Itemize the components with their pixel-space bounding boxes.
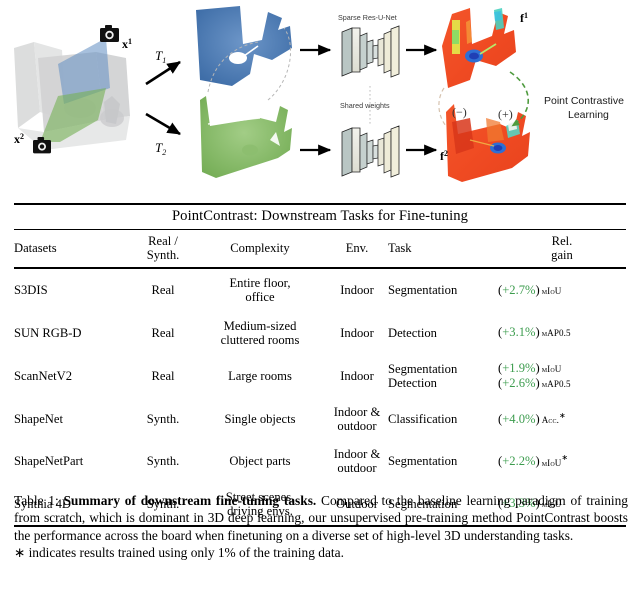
feature-label-1: f1 xyxy=(520,11,528,25)
table-caption: Table 1: Summary of downstream fine-tuni… xyxy=(14,492,628,562)
negative-pair-arc xyxy=(439,88,446,126)
transform-label-t1: T1 xyxy=(155,48,166,65)
downstream-tasks-table: PointContrast: Downstream Tasks for Fine… xyxy=(14,203,626,527)
shared-weights-label: Shared weights xyxy=(340,101,390,110)
gain-value: +2.7% xyxy=(502,283,535,297)
cell-env: Indoor &outdoor xyxy=(326,398,388,440)
cell-realsynth: Real xyxy=(132,354,194,398)
pipeline-figure: x1 x2 T1 T2 xyxy=(0,0,640,200)
header-task: Task xyxy=(388,230,498,268)
gain-entry: (+4.0%)Acc.∗ xyxy=(498,411,626,427)
network-title: Sparse Res-U-Net xyxy=(338,13,397,22)
gain-value: +2.6% xyxy=(502,376,535,390)
gain-metric: mAP0.5 xyxy=(542,379,571,389)
complexity-line1: Medium-sized xyxy=(194,319,326,333)
gain-paren-close: ) xyxy=(536,455,540,469)
contrastive-learning-label-line2: Learning xyxy=(568,109,609,121)
cell-complexity: Single objects xyxy=(194,398,326,440)
cell-gain: (+2.2%)mIoU∗ xyxy=(498,440,626,482)
table-row: S3DISRealEntire floor,officeIndoorSegmen… xyxy=(14,269,626,312)
complexity-line1: Large rooms xyxy=(194,369,326,383)
table-row: ShapeNetSynth.Single objectsIndoor &outd… xyxy=(14,398,626,440)
gain-paren-close: ) xyxy=(536,361,540,375)
cell-gain: (+3.1%)mAP0.5 xyxy=(498,312,626,354)
header-datasets: Datasets xyxy=(14,230,132,268)
env-line1: Indoor xyxy=(326,326,388,340)
table-row: SUN RGB-DRealMedium-sizedcluttered rooms… xyxy=(14,312,626,354)
env-line2: outdoor xyxy=(326,419,388,433)
transform-arrow-t2 xyxy=(146,114,180,134)
gain-paren-close: ) xyxy=(536,376,540,390)
cell-task: Segmentation xyxy=(388,269,498,312)
task-label: Classification xyxy=(388,412,498,426)
cell-complexity: Object parts xyxy=(194,440,326,482)
transform-label-t2: T2 xyxy=(155,140,166,157)
header-env: Env. xyxy=(326,230,388,268)
negative-sign-label: (−) xyxy=(452,105,467,119)
cell-complexity: Entire floor,office xyxy=(194,269,326,312)
cell-task: Detection xyxy=(388,312,498,354)
cell-env: Indoor xyxy=(326,312,388,354)
table-title-row: PointContrast: Downstream Tasks for Fine… xyxy=(14,205,626,230)
task-label: Detection xyxy=(388,376,498,390)
cell-task: Classification xyxy=(388,398,498,440)
table-row: ScanNetV2RealLarge roomsIndoorSegmentati… xyxy=(14,354,626,398)
gain-value: +3.1% xyxy=(502,325,535,339)
gain-metric: Acc. xyxy=(542,415,559,425)
header-realsynth-line2: Synth. xyxy=(132,248,194,262)
complexity-line2: office xyxy=(194,290,326,304)
cell-gain: (+1.9%)mIoU(+2.6%)mAP0.5 xyxy=(498,354,626,398)
gain-metric: mAP0.5 xyxy=(542,328,571,338)
gain-metric: mIoU xyxy=(542,364,562,374)
positive-sign-label: (+) xyxy=(498,107,513,121)
task-label: Detection xyxy=(388,326,498,340)
cell-gain: (+2.7%)mIoU xyxy=(498,269,626,312)
gain-paren-close: ) xyxy=(536,325,540,339)
camera-icon-view1 xyxy=(100,25,119,42)
view1-label: x1 xyxy=(122,37,132,51)
header-gain-line2: gain xyxy=(498,248,626,262)
env-line1: Indoor xyxy=(326,369,388,383)
cell-dataset: SUN RGB-D xyxy=(14,312,132,354)
complexity-line2: cluttered rooms xyxy=(194,333,326,347)
cell-env: Indoor xyxy=(326,269,388,312)
cell-dataset: ShapeNet xyxy=(14,398,132,440)
caption-label: Table 1: xyxy=(14,493,63,508)
cell-dataset: ScanNetV2 xyxy=(14,354,132,398)
cell-dataset: S3DIS xyxy=(14,269,132,312)
transformed-view1 xyxy=(196,6,292,86)
unet-block-2 xyxy=(342,126,399,177)
env-line1: Indoor & xyxy=(326,447,388,461)
cell-realsynth: Real xyxy=(132,312,194,354)
gain-entry: (+2.6%)mAP0.5 xyxy=(498,376,626,391)
header-realsynth-line1: Real / xyxy=(132,234,194,248)
gain-entry: (+2.7%)mIoU xyxy=(498,283,626,298)
transform-arrow-t1 xyxy=(146,62,180,84)
complexity-line1: Entire floor, xyxy=(194,276,326,290)
cell-complexity: Medium-sizedcluttered rooms xyxy=(194,312,326,354)
gain-entry: (+1.9%)mIoU xyxy=(498,361,626,376)
gain-star: ∗ xyxy=(561,453,568,462)
cell-task: SegmentationDetection xyxy=(388,354,498,398)
caption-bold-title: Summary of downstream fine-tuning tasks. xyxy=(63,493,316,508)
cell-realsynth: Synth. xyxy=(132,398,194,440)
gain-metric: mIoU xyxy=(542,458,562,468)
contrastive-learning-label-line1: Point Contrastive xyxy=(544,95,624,107)
cell-complexity: Large rooms xyxy=(194,354,326,398)
gain-paren-close: ) xyxy=(536,412,540,426)
feature-label-2: f2 xyxy=(440,149,448,163)
cell-dataset: ShapeNetPart xyxy=(14,440,132,482)
gain-value: +1.9% xyxy=(502,361,535,375)
env-line1: Indoor & xyxy=(326,405,388,419)
cell-env: Indoor &outdoor xyxy=(326,440,388,482)
complexity-line1: Single objects xyxy=(194,412,326,426)
unet-block-1 xyxy=(342,26,399,77)
header-realsynth: Real / Synth. xyxy=(132,230,194,268)
env-line1: Indoor xyxy=(326,283,388,297)
task-label: Segmentation xyxy=(388,362,498,376)
env-line2: outdoor xyxy=(326,461,388,475)
gain-star: ∗ xyxy=(559,411,566,420)
caption-footnote: ∗ indicates results trained using only 1… xyxy=(14,544,628,561)
cell-env: Indoor xyxy=(326,354,388,398)
table-header-row: Datasets Real / Synth. Complexity Env. T… xyxy=(14,230,626,268)
transformed-view2 xyxy=(200,96,292,178)
gain-entry: (+2.2%)mIoU∗ xyxy=(498,453,626,469)
gain-value: +4.0% xyxy=(502,412,535,426)
gain-metric: mIoU xyxy=(542,286,562,296)
complexity-line1: Object parts xyxy=(194,454,326,468)
feature-map-1 xyxy=(442,8,516,88)
input-scene xyxy=(14,38,130,150)
cell-task: Segmentation xyxy=(388,440,498,482)
cell-realsynth: Synth. xyxy=(132,440,194,482)
cell-gain: (+4.0%)Acc.∗ xyxy=(498,398,626,440)
gain-paren-close: ) xyxy=(536,283,540,297)
task-label: Segmentation xyxy=(388,283,498,297)
table-title: PointContrast: Downstream Tasks for Fine… xyxy=(14,205,626,230)
cell-realsynth: Real xyxy=(132,269,194,312)
header-gain: Rel. gain xyxy=(498,230,626,268)
table-row: ShapeNetPartSynth.Object partsIndoor &ou… xyxy=(14,440,626,482)
view2-label: x2 xyxy=(14,132,24,146)
header-complexity: Complexity xyxy=(194,230,326,268)
gain-value: +2.2% xyxy=(502,455,535,469)
gain-entry: (+3.1%)mAP0.5 xyxy=(498,325,626,340)
task-label: Segmentation xyxy=(388,454,498,468)
header-gain-line1: Rel. xyxy=(498,234,626,248)
